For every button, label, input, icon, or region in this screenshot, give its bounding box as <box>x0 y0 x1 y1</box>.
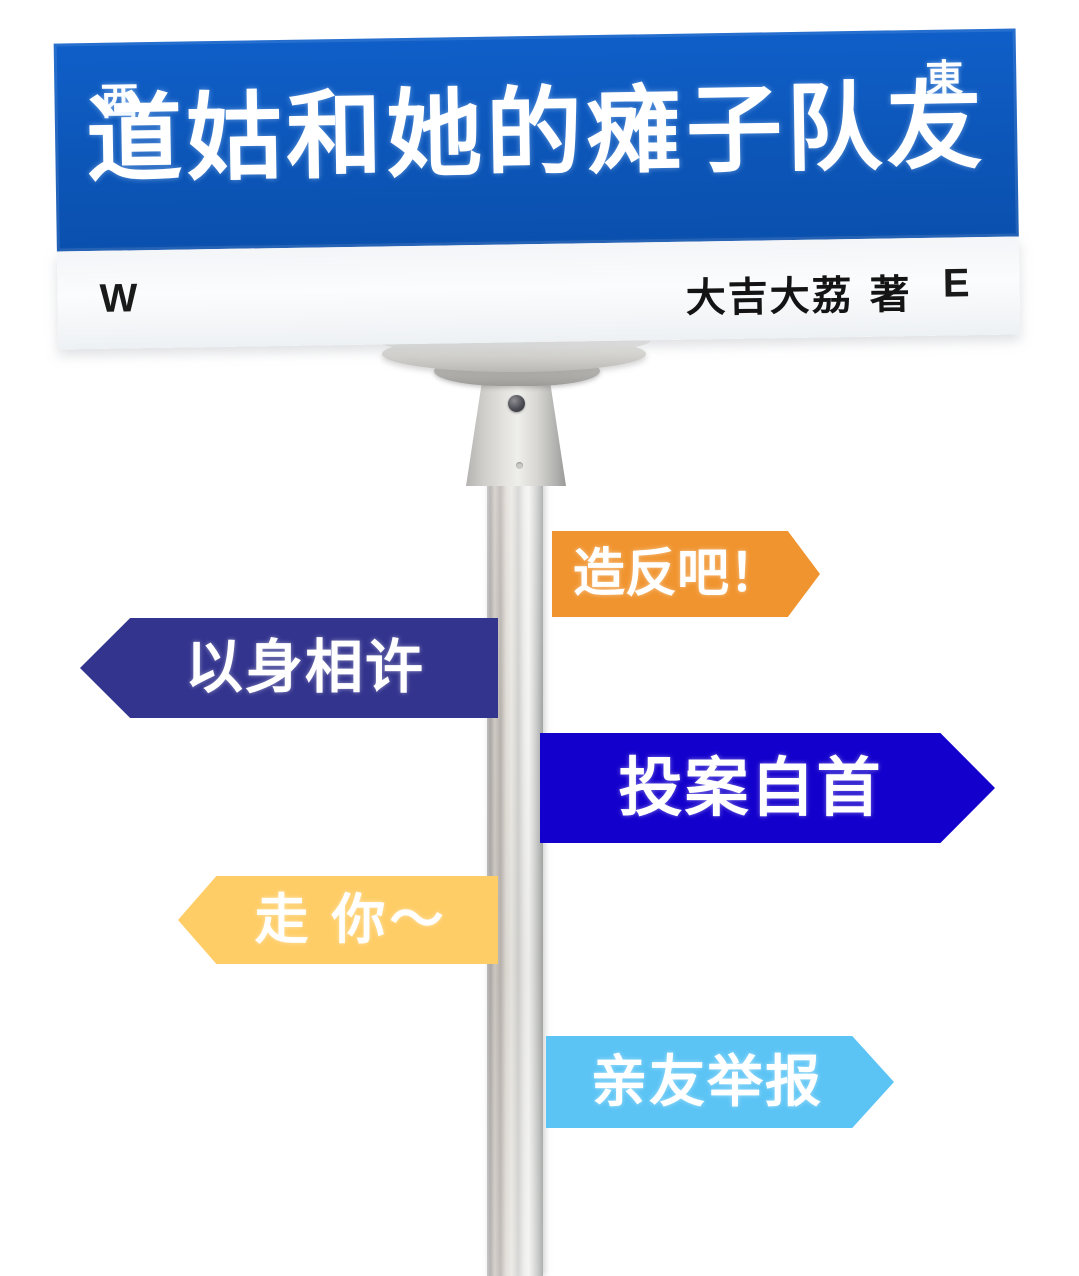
banner-arrow-zouni: 走 你～ <box>178 876 498 964</box>
banner-label-zaofan: 造反吧！ <box>552 548 820 600</box>
collar-rivet-icon <box>516 462 523 469</box>
banner-label-yishenxiangxu: 以身相许 <box>80 639 498 697</box>
banner-arrow-touanzishou: 投案自首 <box>540 733 995 843</box>
banner-label-touanzishou: 投案自首 <box>540 756 995 820</box>
book-title: 道姑和她的瘫子队友 <box>76 79 995 189</box>
sign-pole-shaft <box>487 470 543 1276</box>
poster-canvas: 西 東 道姑和她的瘫子队友 W 大吉大荔著 E 造反吧！ 以身相许 投案自首 走… <box>0 0 1079 1276</box>
author-credit: 大吉大荔著 <box>685 262 912 324</box>
direction-west-letter: W <box>99 276 137 322</box>
banner-label-qinyoujubao: 亲友举报 <box>546 1054 894 1110</box>
street-sign-white-panel: W 大吉大荔著 E <box>57 236 1020 349</box>
banner-arrow-zaofan: 造反吧！ <box>552 531 820 617</box>
street-sign: 西 東 道姑和她的瘫子队友 W 大吉大荔著 E <box>54 28 1021 349</box>
author-suffix: 著 <box>869 273 912 318</box>
collar-bolt-icon <box>508 395 525 412</box>
banner-arrow-yishenxiangxu: 以身相许 <box>80 618 498 718</box>
author-name: 大吉大荔 <box>685 274 854 321</box>
direction-east-letter: E <box>943 261 970 306</box>
banner-arrow-qinyoujubao: 亲友举报 <box>546 1036 894 1128</box>
banner-label-zouni: 走 你～ <box>178 893 498 947</box>
street-sign-blue-panel: 西 東 道姑和她的瘫子队友 <box>54 28 1019 251</box>
